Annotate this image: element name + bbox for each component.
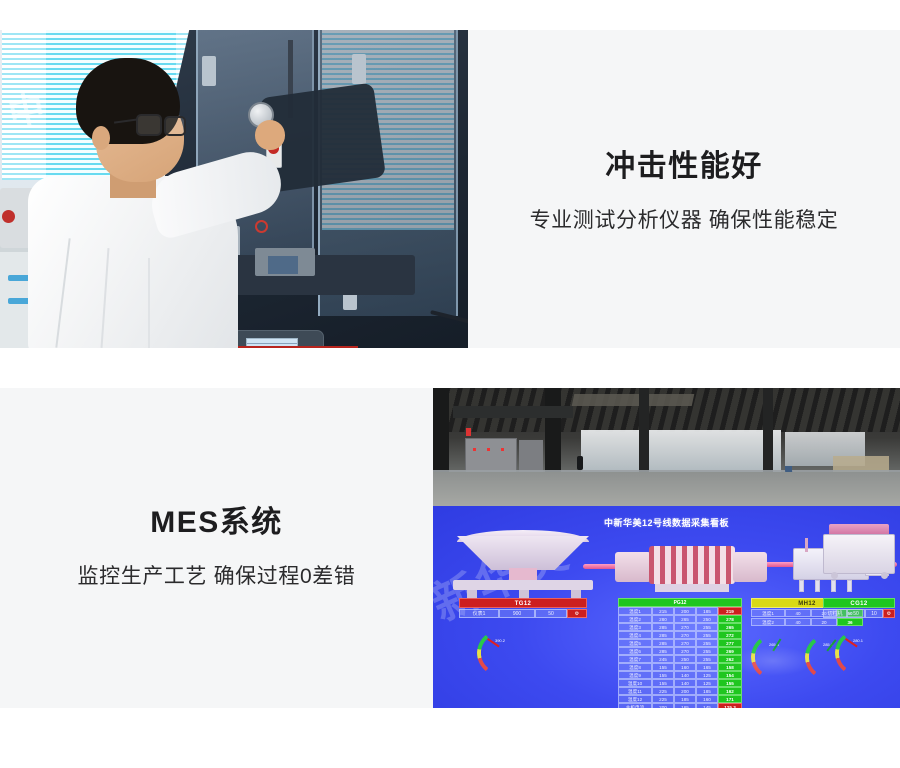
factory-column bbox=[639, 388, 649, 480]
cooling-r2-low[interactable]: 20 bbox=[811, 618, 837, 626]
table-row[interactable]: 温度12225185160171 bbox=[618, 695, 742, 703]
table-row[interactable]: 温度6285270255269 bbox=[618, 647, 742, 655]
feeder-base bbox=[453, 580, 593, 590]
row-setpoint[interactable]: 270 bbox=[674, 647, 696, 655]
coat-fold bbox=[148, 258, 150, 348]
impact-copy-block: 冲击性能好 专业测试分析仪器 确保性能稳定 bbox=[468, 30, 900, 348]
cutter-cell-2[interactable]: 10 bbox=[865, 609, 883, 618]
row-high-limit[interactable]: 285 bbox=[652, 647, 674, 655]
table-header: PG12 bbox=[618, 598, 742, 607]
technician-hand bbox=[255, 120, 285, 150]
mes-dashboard-screen: 新华美 中新华美12号线数据采集看板 TG12 仪表1 900 5 bbox=[433, 506, 900, 708]
cooling-nozzle bbox=[799, 580, 804, 592]
row-label[interactable]: 温度7 bbox=[618, 655, 652, 663]
lab-technician bbox=[18, 58, 248, 348]
row-label[interactable]: 温度5 bbox=[618, 639, 652, 647]
row-label[interactable]: 温度6 bbox=[618, 647, 652, 655]
indicator-light-icon bbox=[473, 448, 476, 451]
row-label[interactable]: 温度2 bbox=[618, 615, 652, 623]
station-tag-feeder[interactable]: TG12 bbox=[459, 598, 587, 608]
row-label[interactable]: 温度11 bbox=[618, 687, 652, 695]
factory-column bbox=[763, 388, 773, 480]
table-body[interactable]: 温度1215200185219温度2280265250278温度32852702… bbox=[618, 607, 742, 708]
feeder-cell-2[interactable]: 50 bbox=[535, 609, 567, 618]
row-label[interactable]: 温度1 bbox=[618, 607, 652, 615]
table-row[interactable]: 温度4285270255272 bbox=[618, 631, 742, 639]
cutter-cell-1[interactable]: 50 bbox=[847, 609, 865, 618]
feature-section-impact: 中 冲击性能好 专业测试分析仪器 确保性能稳定 bbox=[0, 30, 900, 348]
row-high-limit[interactable]: 155 bbox=[652, 679, 674, 687]
feeder-gauge: 390.2 bbox=[477, 630, 523, 656]
table-row[interactable]: 温度11225200185162 bbox=[618, 687, 742, 695]
row-label[interactable]: 温度9 bbox=[618, 671, 652, 679]
feeder-settings-icon[interactable]: ⚙ bbox=[567, 609, 587, 618]
row-label[interactable]: 温度3 bbox=[618, 623, 652, 631]
table-row[interactable]: 温度7245250255262 bbox=[618, 655, 742, 663]
row-label[interactable]: 温度12 bbox=[618, 695, 652, 703]
feeder-cell-1[interactable]: 900 bbox=[499, 609, 535, 618]
cutter-settings-icon[interactable]: ⚙ bbox=[883, 609, 895, 618]
cooling-r2-actual[interactable]: 36 bbox=[837, 618, 863, 626]
cooling-r1-set[interactable]: 40 bbox=[785, 609, 811, 617]
extruder-outlet bbox=[733, 552, 767, 582]
row-low-limit[interactable]: 255 bbox=[696, 623, 718, 631]
process-parameter-table[interactable]: PG12 温度1215200185219温度2280265250278温度328… bbox=[618, 598, 742, 708]
table-row[interactable]: 温度3285270255265 bbox=[618, 623, 742, 631]
mes-factory-dashboard-photo: 新华美 中新华美12号线数据采集看板 TG12 仪表1 900 5 bbox=[433, 388, 900, 708]
row-actual-value[interactable]: 278 bbox=[718, 615, 742, 623]
equipment-foot bbox=[467, 590, 477, 598]
feeder-cell-row[interactable]: 仪表1 900 50 ⚙ bbox=[459, 609, 587, 618]
table-row[interactable]: 温度10155140125155 bbox=[618, 679, 742, 687]
factory-window bbox=[581, 430, 781, 472]
impact-title: 冲击性能好 bbox=[605, 149, 763, 185]
cutter-cell-row[interactable]: 切粒机 50 10 ⚙ bbox=[823, 609, 895, 618]
row-label[interactable]: 主机电流 bbox=[618, 703, 652, 708]
impact-testing-machine-photo: 中 bbox=[0, 30, 468, 348]
factory-floor bbox=[433, 472, 900, 506]
factory-workshop-photo bbox=[433, 388, 900, 506]
table-row[interactable]: 温度9155140125154 bbox=[618, 671, 742, 679]
table-row[interactable]: 温度5285270255277 bbox=[618, 639, 742, 647]
cutter-cell-0[interactable]: 切粒机 bbox=[823, 609, 847, 618]
table-row[interactable]: 温度1215200185219 bbox=[618, 607, 742, 615]
row-high-limit[interactable]: 285 bbox=[652, 623, 674, 631]
cooling-nozzle bbox=[847, 580, 852, 592]
cooling-row-2[interactable]: 温度2 40 20 36 bbox=[751, 618, 863, 626]
indicator-light-icon bbox=[501, 448, 504, 451]
row-setpoint[interactable]: 200 bbox=[674, 607, 696, 615]
table-row[interactable]: 主机电流200165145125.3 bbox=[618, 703, 742, 708]
factory-beam bbox=[453, 406, 573, 418]
feeder-hopper bbox=[457, 536, 589, 570]
row-high-limit[interactable]: 155 bbox=[652, 663, 674, 671]
row-low-limit[interactable]: 160 bbox=[696, 695, 718, 703]
row-setpoint[interactable]: 265 bbox=[674, 615, 696, 623]
row-setpoint[interactable]: 270 bbox=[674, 631, 696, 639]
emergency-stop-icon bbox=[2, 210, 15, 223]
equipment-foot bbox=[519, 590, 529, 598]
mes-subtitle: 监控生产工艺 确保过程0差错 bbox=[78, 563, 356, 590]
row-low-limit[interactable]: 255 bbox=[696, 655, 718, 663]
row-high-limit[interactable]: 225 bbox=[652, 695, 674, 703]
feeder-cell-0[interactable]: 仪表1 bbox=[459, 609, 499, 618]
row-setpoint[interactable]: 160 bbox=[674, 663, 696, 671]
table-row[interactable]: 温度2280265250278 bbox=[618, 615, 742, 623]
eyeglasses-icon bbox=[136, 114, 162, 136]
product-detail-page: 中 冲击性能好 专业测试分析仪器 确保性能稳定 MES系统 监控生产工艺 确保过… bbox=[0, 0, 900, 768]
row-setpoint[interactable]: 250 bbox=[674, 655, 696, 663]
equipment-foot bbox=[571, 590, 581, 598]
door-hinge-icon bbox=[352, 54, 366, 84]
row-low-limit[interactable]: 165 bbox=[696, 663, 718, 671]
row-high-limit[interactable]: 225 bbox=[652, 687, 674, 695]
row-actual-value[interactable]: 162 bbox=[718, 687, 742, 695]
impact-subtitle: 专业测试分析仪器 确保性能稳定 bbox=[530, 207, 839, 234]
cooling-nozzle bbox=[831, 580, 836, 592]
cutter-gauge: 280.1 bbox=[835, 630, 881, 656]
row-setpoint[interactable]: 270 bbox=[674, 639, 696, 647]
row-high-limit[interactable]: 200 bbox=[652, 703, 674, 708]
row-high-limit[interactable]: 245 bbox=[652, 655, 674, 663]
extruder-barrel bbox=[649, 546, 735, 584]
row-high-limit[interactable]: 285 bbox=[652, 631, 674, 639]
row-actual-value[interactable]: 219 bbox=[718, 607, 742, 615]
row-setpoint[interactable]: 185 bbox=[674, 695, 696, 703]
row-low-limit[interactable]: 185 bbox=[696, 607, 718, 615]
pelletizer-body bbox=[823, 534, 895, 574]
indicator-light-icon bbox=[487, 448, 490, 451]
row-setpoint[interactable]: 165 bbox=[674, 703, 696, 708]
row-low-limit[interactable]: 125 bbox=[696, 679, 718, 687]
row-setpoint[interactable]: 140 bbox=[674, 671, 696, 679]
row-label[interactable]: 温度4 bbox=[618, 631, 652, 639]
cooling-r2-label[interactable]: 温度2 bbox=[751, 618, 785, 626]
row-low-limit[interactable]: 145 bbox=[696, 703, 718, 708]
row-high-limit[interactable]: 155 bbox=[652, 671, 674, 679]
cooling-nozzle bbox=[815, 580, 820, 592]
row-high-limit[interactable]: 280 bbox=[652, 615, 674, 623]
mes-copy-block: MES系统 监控生产工艺 确保过程0差错 bbox=[0, 388, 433, 708]
row-setpoint[interactable]: 270 bbox=[674, 623, 696, 631]
table-row[interactable]: 温度8155160165158 bbox=[618, 663, 742, 671]
extruder-inlet bbox=[615, 552, 651, 582]
row-actual-value[interactable]: 265 bbox=[718, 623, 742, 631]
row-low-limit[interactable]: 255 bbox=[696, 631, 718, 639]
row-label[interactable]: 温度8 bbox=[618, 663, 652, 671]
row-low-limit[interactable]: 250 bbox=[696, 615, 718, 623]
screen-glare bbox=[733, 646, 813, 676]
row-actual-value[interactable]: 155 bbox=[718, 679, 742, 687]
cooling-r2-set[interactable]: 40 bbox=[785, 618, 811, 626]
row-low-limit[interactable]: 125 bbox=[696, 671, 718, 679]
alarm-beacon-icon bbox=[466, 428, 471, 436]
equipment-wheel bbox=[881, 572, 888, 579]
eyeglasses-icon bbox=[164, 116, 186, 136]
station-tag-cutter[interactable]: CG12 bbox=[823, 598, 895, 608]
gauge-arc bbox=[835, 630, 881, 676]
warning-symbol-icon bbox=[255, 220, 268, 233]
feature-section-mes: MES系统 监控生产工艺 确保过程0差错 bbox=[0, 388, 900, 708]
extruder-base bbox=[655, 584, 729, 592]
row-low-limit[interactable]: 185 bbox=[696, 687, 718, 695]
row-high-limit[interactable]: 285 bbox=[652, 639, 674, 647]
cutter-gauge-value: 280.1 bbox=[835, 638, 881, 643]
row-low-limit[interactable]: 255 bbox=[696, 639, 718, 647]
row-setpoint[interactable]: 200 bbox=[674, 687, 696, 695]
equipment-wheel bbox=[831, 572, 838, 579]
row-low-limit[interactable]: 255 bbox=[696, 647, 718, 655]
row-actual-value[interactable]: 272 bbox=[718, 631, 742, 639]
cooling-r1-label[interactable]: 温度1 bbox=[751, 609, 785, 617]
row-actual-value[interactable]: 171 bbox=[718, 695, 742, 703]
row-high-limit[interactable]: 215 bbox=[652, 607, 674, 615]
factory-skylight bbox=[572, 394, 695, 406]
row-actual-value[interactable]: 125.3 bbox=[718, 703, 742, 708]
mes-title: MES系统 bbox=[150, 505, 283, 541]
row-label[interactable]: 温度10 bbox=[618, 679, 652, 687]
gauge-arc bbox=[477, 630, 523, 676]
feeder-gauge-value: 390.2 bbox=[477, 638, 523, 643]
specimen-holder bbox=[268, 256, 298, 274]
technician-ear bbox=[92, 126, 110, 150]
row-setpoint[interactable]: 140 bbox=[674, 679, 696, 687]
factory-worker bbox=[577, 456, 583, 470]
cooling-rod bbox=[805, 538, 808, 552]
